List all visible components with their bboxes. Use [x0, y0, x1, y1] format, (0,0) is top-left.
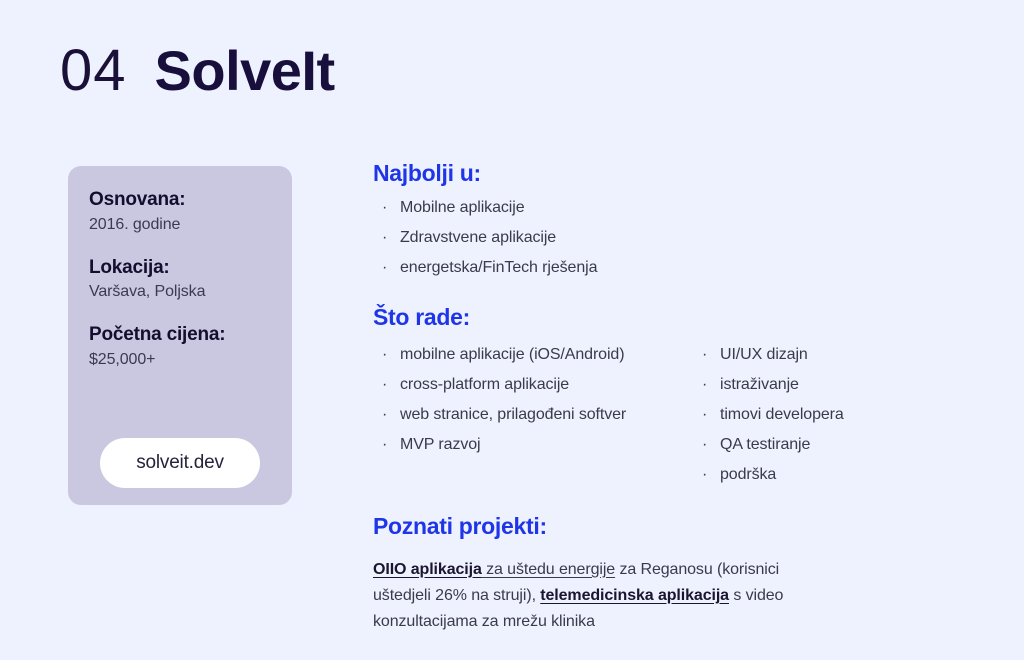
section-best-at: Najbolji u: · Mobilne aplikacije · Zdrav… — [373, 160, 993, 276]
services-list-right: · UI/UX dizajn · istraživanje · timovi d… — [693, 347, 973, 483]
page-title: 04 SolveIt — [60, 42, 335, 100]
bullet-icon: · — [702, 347, 707, 363]
list-item: · UI/UX dizajn — [693, 347, 973, 363]
content-column: Najbolji u: · Mobilne aplikacije · Zdrav… — [373, 160, 993, 651]
section-services-heading: Što rade: — [373, 304, 993, 332]
list-item: · cross-platform aplikacije — [373, 377, 693, 393]
list-item-label: Zdravstvene aplikacije — [400, 229, 556, 246]
best-at-list: · Mobilne aplikacije · Zdravstvene aplik… — [373, 200, 993, 276]
fact-starting-price: Početna cijena: $25,000+ — [89, 323, 292, 371]
section-services: Što rade: · mobilne aplikacije (iOS/Andr… — [373, 304, 993, 484]
list-item: · podrška — [693, 467, 973, 483]
list-item: · mobilne aplikacije (iOS/Android) — [373, 347, 693, 363]
list-item-label: energetska/FinTech rješenja — [400, 259, 597, 276]
fact-starting-price-label: Početna cijena: — [89, 323, 292, 347]
fact-location-label: Lokacija: — [89, 256, 292, 280]
section-projects-heading: Poznati projekti: — [373, 513, 993, 541]
slide-number: 04 — [60, 42, 127, 100]
bullet-icon: · — [702, 407, 707, 423]
website-url-label: solveit.dev — [136, 452, 224, 474]
company-name: SolveIt — [155, 43, 335, 99]
list-item-label: UI/UX dizajn — [720, 346, 808, 363]
fact-starting-price-value: $25,000+ — [89, 350, 292, 371]
project-link-telemedicine[interactable]: telemedicinska aplikacija — [540, 587, 729, 604]
list-item-label: Mobilne aplikacije — [400, 199, 525, 216]
fact-location-value: Varšava, Poljska — [89, 282, 292, 303]
fact-founded: Osnovana: 2016. godine — [89, 188, 292, 236]
list-item: · MVP razvoj — [373, 437, 693, 453]
fact-location: Lokacija: Varšava, Poljska — [89, 256, 292, 304]
projects-description: OIIO aplikacija za uštedu energije za Re… — [373, 557, 833, 635]
list-item: · Mobilne aplikacije — [373, 200, 993, 216]
bullet-icon: · — [702, 377, 707, 393]
bullet-icon: · — [382, 407, 387, 423]
project-link-oiio[interactable]: OIIO aplikacija — [373, 561, 482, 578]
services-list-left: · mobilne aplikacije (iOS/Android) · cro… — [373, 347, 693, 483]
website-pill-button[interactable]: solveit.dev — [100, 438, 260, 488]
list-item: · energetska/FinTech rješenja — [373, 260, 993, 276]
list-item-label: mobilne aplikacije (iOS/Android) — [400, 346, 624, 363]
list-item: · timovi developera — [693, 407, 973, 423]
bullet-icon: · — [702, 437, 707, 453]
list-item-label: MVP razvoj — [400, 436, 481, 453]
list-item-label: podrška — [720, 466, 776, 483]
section-best-at-heading: Najbolji u: — [373, 160, 993, 188]
bullet-icon: · — [702, 467, 707, 483]
section-projects: Poznati projekti: OIIO aplikacija za ušt… — [373, 513, 993, 634]
list-item: · web stranice, prilagođeni softver — [373, 407, 693, 423]
bullet-icon: · — [382, 230, 387, 246]
list-item-label: istraživanje — [720, 376, 799, 393]
bullet-icon: · — [382, 377, 387, 393]
company-info-card: Osnovana: 2016. godine Lokacija: Varšava… — [68, 166, 292, 505]
list-item-label: timovi developera — [720, 406, 844, 423]
list-item: · istraživanje — [693, 377, 973, 393]
bullet-icon: · — [382, 347, 387, 363]
project-link-energy[interactable]: za uštedu energije — [482, 561, 615, 578]
list-item-label: web stranice, prilagođeni softver — [400, 406, 626, 423]
fact-founded-label: Osnovana: — [89, 188, 292, 212]
list-item-label: cross-platform aplikacije — [400, 376, 569, 393]
bullet-icon: · — [382, 437, 387, 453]
services-columns: · mobilne aplikacije (iOS/Android) · cro… — [373, 347, 993, 483]
list-item: · QA testiranje — [693, 437, 973, 453]
list-item-label: QA testiranje — [720, 436, 810, 453]
bullet-icon: · — [382, 200, 387, 216]
list-item: · Zdravstvene aplikacije — [373, 230, 993, 246]
slide-root: { "theme": { "background": "#eef1fe", "c… — [0, 0, 1024, 660]
bullet-icon: · — [382, 260, 387, 276]
fact-founded-value: 2016. godine — [89, 215, 292, 236]
